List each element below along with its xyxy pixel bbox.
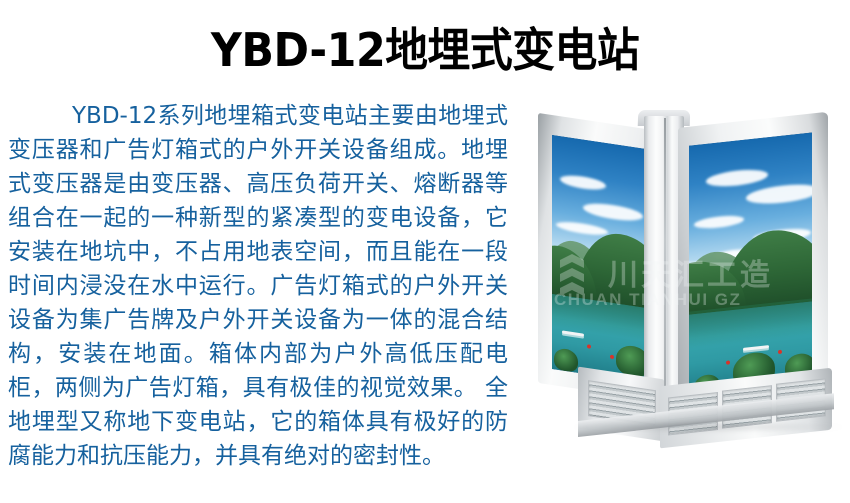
product-info-page: YBD-12地埋式变电站 YBD-12系列地埋箱式变电站主要由地埋式变压器和广告… bbox=[0, 0, 850, 503]
ground-shadow bbox=[572, 422, 844, 432]
page-title: YBD-12地埋式变电站 bbox=[30, 26, 821, 74]
product-description: YBD-12系列地埋箱式变电站主要由地埋式变压器和广告灯箱式的户外开关设备组成。… bbox=[8, 99, 508, 473]
product-photo: 川天汇工造 CHUAN TIANHUI GZ bbox=[520, 110, 840, 440]
left-panel-artwork bbox=[552, 135, 655, 384]
ventilated-plinth bbox=[520, 355, 840, 450]
